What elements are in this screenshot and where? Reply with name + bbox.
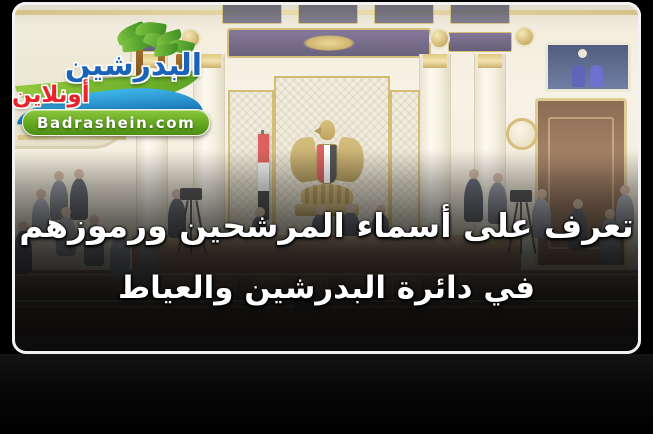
site-domain-pill[interactable]: Badrashein.com — [22, 109, 210, 136]
site-domain-label: Badrashein.com — [37, 114, 195, 132]
headline-block: تعرف على أسماء المرشحين ورموزهم في دائرة… — [12, 208, 641, 306]
thumbnail-image: تعرف على أسماء المرشحين ورموزهم في دائرة… — [0, 0, 653, 434]
headline-line-1: تعرف على أسماء المرشحين ورموزهم — [12, 208, 641, 245]
site-name-arabic: البدرشين — [65, 48, 202, 83]
bottom-black-bar — [0, 354, 653, 434]
headline-line-2: في دائرة البدرشين والعياط — [12, 271, 641, 306]
site-tagline-arabic: أونلاين — [12, 82, 90, 108]
site-watermark-logo[interactable]: البدرشين أونلاين Badrashein.com — [6, 18, 206, 146]
